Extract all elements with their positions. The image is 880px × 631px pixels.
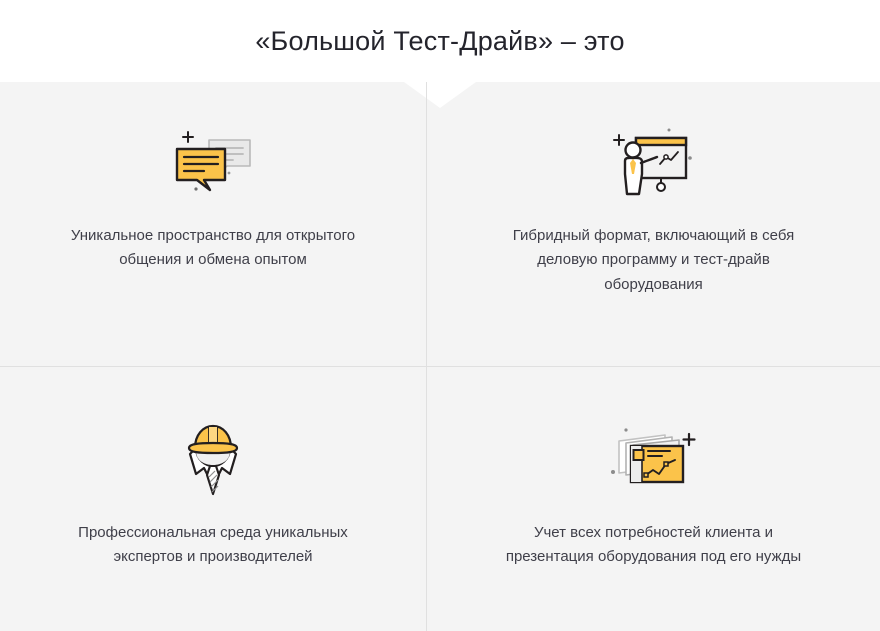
feature-card-2[interactable]: Гибридный формат, включающий в себя дело… [427, 82, 880, 367]
feature-card-2-text: Гибридный формат, включающий в себя дело… [499, 224, 809, 297]
feature-card-3-text: Профессиональная среда уникальных экспер… [63, 521, 363, 570]
feature-card-1[interactable]: Уникальное пространство для открытого об… [0, 82, 427, 367]
feature-card-4-text: Учет всех потребностей клиента и презент… [499, 521, 809, 570]
presenter-whiteboard-icon [606, 122, 702, 198]
feature-card-3[interactable]: Профессиональная среда уникальных экспер… [0, 367, 427, 631]
page-title: «Большой Тест-Драйв» – это [255, 25, 624, 57]
page-header: «Большой Тест-Драйв» – это [0, 0, 880, 82]
feature-card-4[interactable]: Учет всех потребностей клиента и презент… [427, 367, 880, 631]
hard-hat-tie-icon [165, 419, 261, 495]
presentation-slides-icon [606, 419, 702, 495]
features-panel: Уникальное пространство для открытого об… [0, 82, 880, 631]
feature-card-1-text: Уникальное пространство для открытого об… [63, 224, 363, 273]
features-grid: Уникальное пространство для открытого об… [0, 82, 880, 631]
page-root: «Большой Тест-Драйв» – это [0, 0, 880, 631]
speech-bubbles-icon [165, 122, 261, 198]
